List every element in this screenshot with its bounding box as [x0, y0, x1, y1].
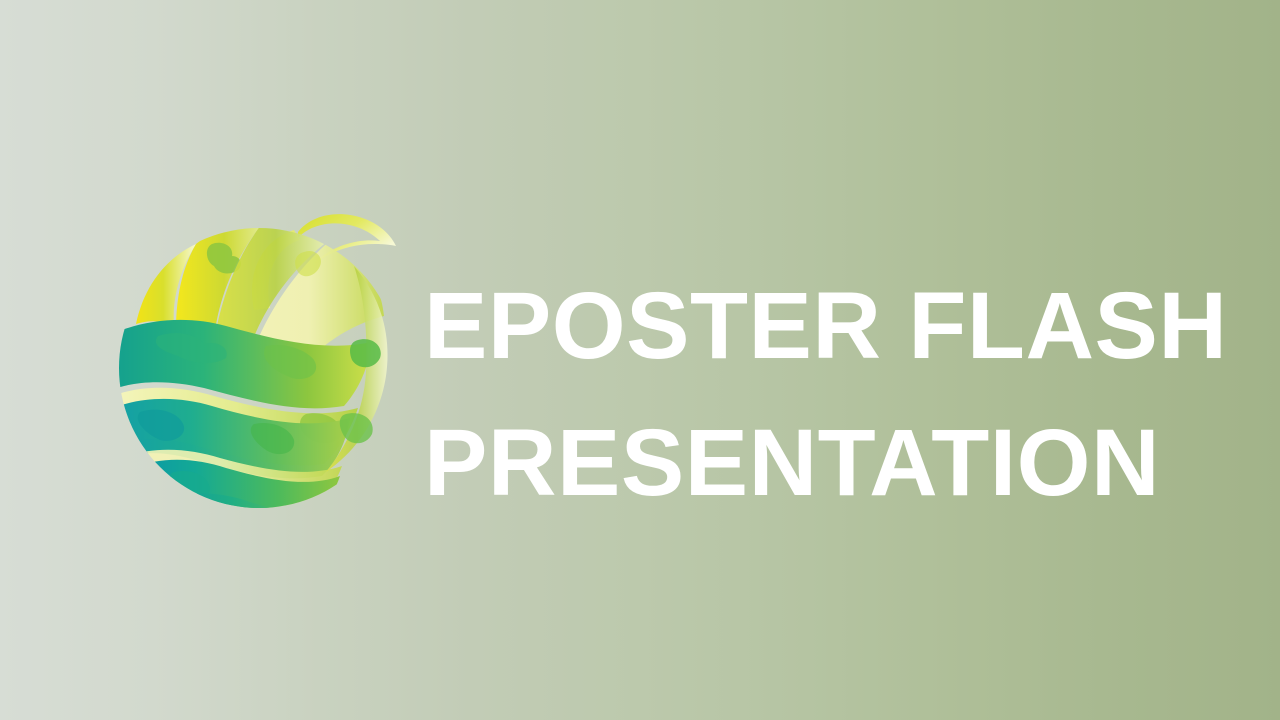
slide-canvas: EPOSTER FLASH PRESENTATION [0, 0, 1280, 720]
title-line-1: EPOSTER FLASH [424, 258, 1214, 395]
page-title: EPOSTER FLASH PRESENTATION [424, 258, 1214, 532]
globe-leaf-logo [118, 200, 404, 526]
title-line-2: PRESENTATION [424, 395, 1214, 532]
